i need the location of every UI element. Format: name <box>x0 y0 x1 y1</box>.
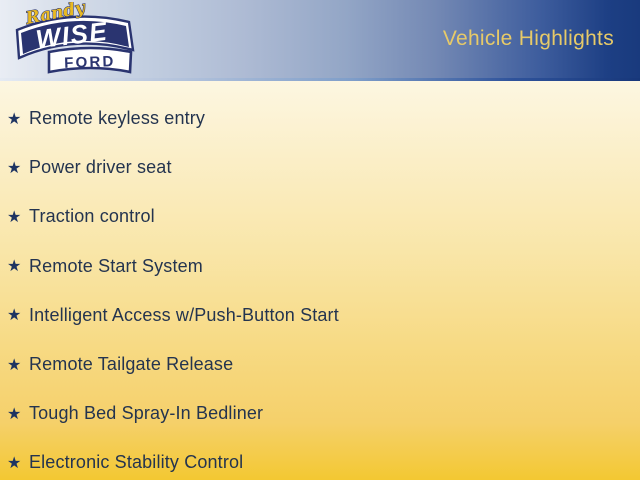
list-item-label: Power driver seat <box>29 157 172 178</box>
logo-ford-banner: FORD <box>49 48 131 72</box>
list-item-label: Tough Bed Spray-In Bedliner <box>29 403 263 424</box>
list-item-label: Intelligent Access w/Push-Button Start <box>29 305 339 326</box>
list-item: ★ Remote Start System <box>0 242 640 291</box>
list-item-label: Remote Start System <box>29 256 203 277</box>
list-item: ★ Power driver seat <box>0 143 640 192</box>
svg-text:FORD: FORD <box>64 53 116 72</box>
list-item: ★ Traction control <box>0 192 640 241</box>
star-bullet-icon: ★ <box>7 454 29 472</box>
list-item-label: Traction control <box>29 206 155 227</box>
dealer-logo: WISE Randy FORD <box>9 2 137 78</box>
list-item: ★ Remote keyless entry <box>0 94 640 143</box>
star-bullet-icon: ★ <box>7 110 29 128</box>
star-bullet-icon: ★ <box>7 208 29 226</box>
slide-header: WISE Randy FORD Vehicle Highlights <box>0 0 640 81</box>
list-item: ★ Intelligent Access w/Push-Button Start <box>0 291 640 340</box>
star-bullet-icon: ★ <box>7 257 29 275</box>
star-bullet-icon: ★ <box>7 405 29 423</box>
list-item: ★ Tough Bed Spray-In Bedliner <box>0 389 640 438</box>
vehicle-highlights-list: ★ Remote keyless entry ★ Power driver se… <box>0 81 640 480</box>
list-item-label: Remote keyless entry <box>29 108 205 129</box>
star-bullet-icon: ★ <box>7 159 29 177</box>
list-item-label: Remote Tailgate Release <box>29 354 233 375</box>
page-title: Vehicle Highlights <box>443 27 614 51</box>
list-item: ★ Remote Tailgate Release <box>0 340 640 389</box>
list-item: ★ Electronic Stability Control <box>0 438 640 480</box>
vehicle-highlights-slide: WISE Randy FORD Vehicle Highlights ★ Rem… <box>0 0 640 480</box>
randy-wise-ford-logo-icon: WISE Randy FORD <box>9 2 137 78</box>
list-item-label: Electronic Stability Control <box>29 452 243 473</box>
star-bullet-icon: ★ <box>7 306 29 324</box>
star-bullet-icon: ★ <box>7 356 29 374</box>
